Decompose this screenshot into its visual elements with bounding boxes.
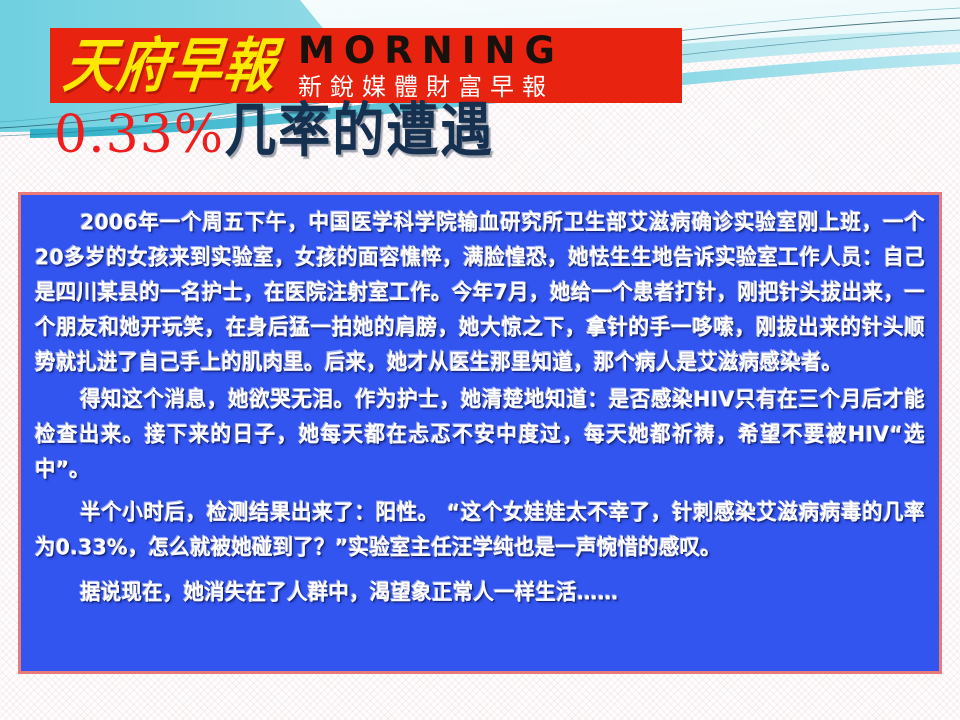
masthead-text-group: MORNING 新銳媒體財富早報 [298,32,564,99]
masthead-subtitle: 新銳媒體財富早報 [298,75,564,99]
body-paragraph: 得知这个消息，她欲哭无泪。作为护士，她清楚地知道：是否感染HIV只有在三个月后才… [35,382,925,487]
masthead-brand-chinese: 天府早報 [61,36,279,95]
title-text: 几率的遭遇 [224,101,494,162]
content-text-box: 2006年一个周五下午，中国医学科学院输血研究所卫生部艾滋病确诊实验室刚上班，一… [18,192,942,674]
masthead-brand-english: MORNING [298,32,564,69]
title-percentage: 0.33% [54,108,224,163]
slide-canvas: 天府早報 MORNING 新銳媒體財富早報 0.33% 几率的遭遇 2006年一… [0,0,960,720]
body-paragraph: 2006年一个周五下午，中国医学科学院输血研究所卫生部艾滋病确诊实验室刚上班，一… [35,205,925,380]
body-paragraph: 半个小时后，检测结果出来了：阳性。 “这个女娃娃太不幸了，针刺感染艾滋病病毒的几… [35,495,925,565]
page-title: 0.33% 几率的遭遇 [54,108,494,163]
body-paragraph: 据说现在，她消失在了人群中，渴望象正常人一样生活…… [35,575,925,610]
masthead-banner: 天府早報 MORNING 新銳媒體財富早報 [50,28,682,103]
